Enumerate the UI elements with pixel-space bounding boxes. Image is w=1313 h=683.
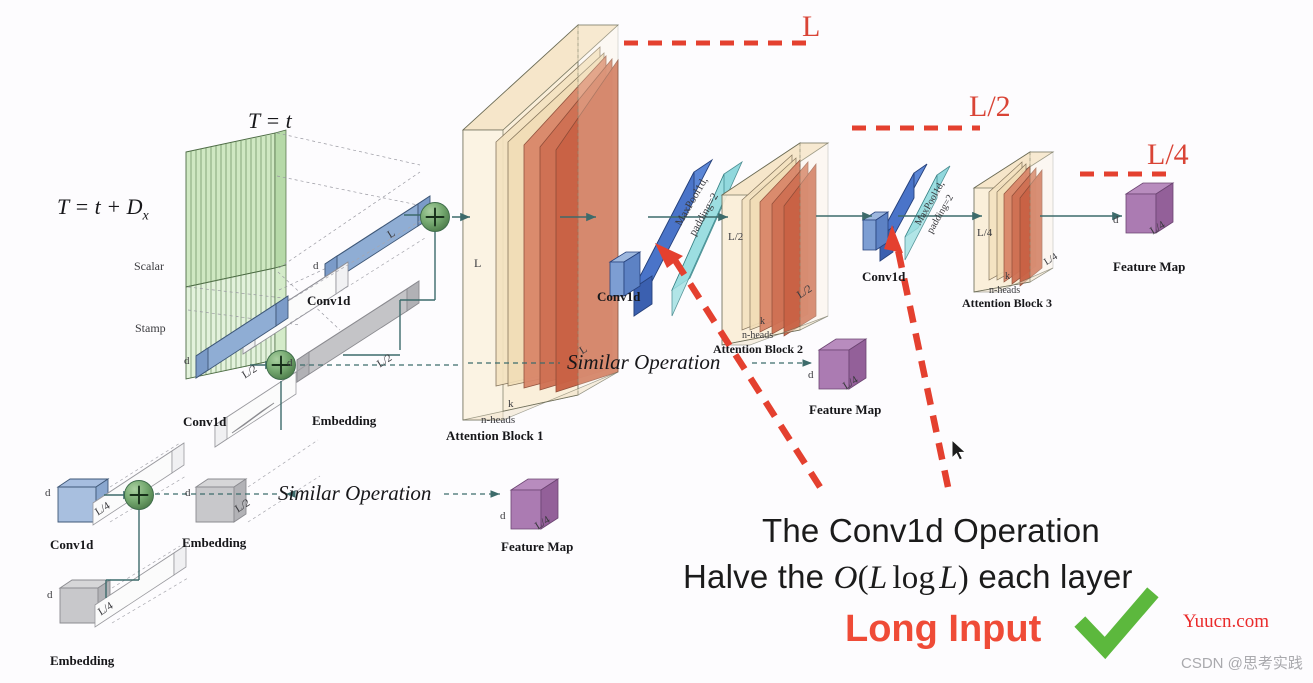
label-k-3: k bbox=[1005, 271, 1010, 282]
label-Lhalf-block2-left: L/2 bbox=[728, 231, 743, 243]
label-d-6: d bbox=[47, 589, 53, 601]
label-feature-map-1: Feature Map bbox=[809, 402, 881, 418]
label-similar-operation-2: Similar Operation bbox=[278, 481, 431, 506]
caption-emphasis-long-input: Long Input bbox=[845, 608, 1041, 651]
label-attention-block-1: Attention Block 1 bbox=[446, 428, 544, 444]
label-conv1d-block1: Conv1d bbox=[597, 289, 640, 305]
label-embedding-mid: Embedding bbox=[182, 535, 246, 551]
label-k-2: k bbox=[760, 316, 765, 327]
label-nheads-1: n-heads bbox=[481, 414, 515, 426]
label-L-block1-left: L bbox=[474, 256, 481, 271]
label-similar-operation-1: Similar Operation bbox=[567, 350, 720, 375]
label-stamp: Stamp bbox=[135, 321, 166, 336]
label-feature-map-3: Feature Map bbox=[1113, 259, 1185, 275]
caption-L-1: L bbox=[869, 560, 888, 596]
caption-L-2: L bbox=[935, 560, 958, 596]
caption-log: log bbox=[887, 560, 935, 596]
caption-paren-open: ( bbox=[858, 560, 869, 596]
caption-line2-pre: Halve the bbox=[683, 558, 834, 595]
check-mark-icon bbox=[1085, 598, 1148, 648]
label-conv1d-bottomleft: Conv1d bbox=[50, 537, 93, 553]
label-d-3: d bbox=[287, 357, 293, 369]
label-d-4: d bbox=[45, 487, 51, 499]
watermark-handle: CSDN @思考实践 bbox=[1181, 652, 1303, 673]
caption-paren-close: ) bbox=[958, 560, 969, 596]
attention-block-3 bbox=[974, 152, 1053, 292]
red-marker-L: L bbox=[802, 10, 820, 44]
red-marker-L-quarter: L/4 bbox=[1147, 138, 1189, 172]
red-callout-arrow-2 bbox=[884, 225, 948, 487]
label-d-7: d bbox=[808, 369, 814, 381]
label-T-equals-t-plus-Dx: T = t + Dx bbox=[57, 194, 149, 224]
diagram-canvas: T = t T = t + Dx Scalar Stamp d d d d d … bbox=[0, 0, 1313, 683]
label-T-equals-t: T = t bbox=[248, 108, 292, 134]
label-Lquarter-block3-left: L/4 bbox=[977, 227, 992, 239]
watermark-site: Yuucn.com bbox=[1183, 611, 1269, 633]
label-k-1: k bbox=[508, 398, 514, 410]
label-conv1d-block2: Conv1d bbox=[862, 269, 905, 285]
caption-big-O: O bbox=[834, 560, 858, 596]
attention-block-2 bbox=[722, 143, 828, 345]
caption-line-2: Halve the O(LlogL) each layer bbox=[683, 558, 1133, 597]
label-embedding-bottom: Embedding bbox=[50, 653, 114, 669]
label-embedding-upper: Embedding bbox=[312, 413, 376, 429]
label-attention-block-2: Attention Block 2 bbox=[713, 342, 803, 357]
label-feature-map-2: Feature Map bbox=[501, 539, 573, 555]
label-d-1: d bbox=[313, 260, 319, 272]
label-d-5: d bbox=[185, 487, 191, 499]
caption-line-1: The Conv1d Operation bbox=[762, 512, 1100, 550]
red-length-markers bbox=[624, 43, 1172, 174]
mouse-cursor bbox=[952, 440, 965, 460]
label-d-8: d bbox=[500, 510, 506, 522]
label-d-2: d bbox=[184, 355, 190, 367]
label-scalar: Scalar bbox=[134, 259, 164, 274]
label-nheads-2: n-heads bbox=[742, 330, 773, 341]
label-nheads-3: n-heads bbox=[989, 285, 1020, 296]
caption-line2-post: each layer bbox=[969, 558, 1133, 595]
label-conv1d-mid: Conv1d bbox=[183, 414, 226, 430]
label-d-9: d bbox=[1113, 214, 1119, 226]
label-conv1d-upper: Conv1d bbox=[307, 293, 350, 309]
label-attention-block-3: Attention Block 3 bbox=[962, 296, 1052, 311]
red-marker-L-half: L/2 bbox=[969, 90, 1011, 124]
